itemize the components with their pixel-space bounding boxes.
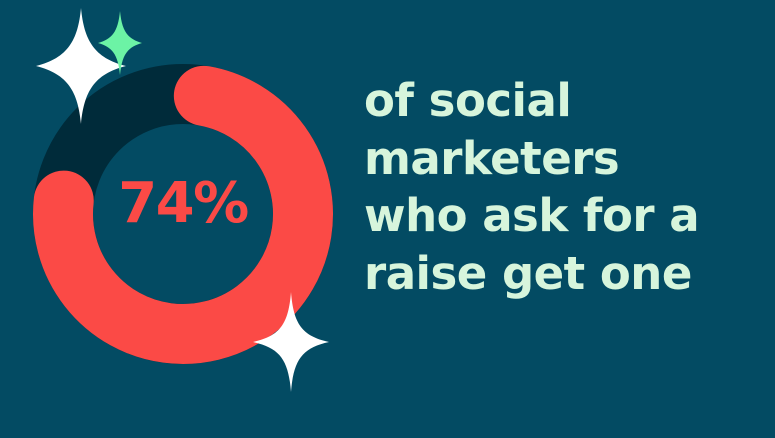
donut-center-percentage: 74%	[33, 176, 333, 232]
headline-line-4: raise get one	[364, 245, 764, 303]
headline-line-2: marketers	[364, 130, 764, 188]
headline-line-3: who ask for a	[364, 187, 764, 245]
infographic-canvas: 74% of social marketers who ask for a ra…	[0, 0, 775, 438]
headline-line-1: of social	[364, 72, 764, 130]
headline-text: of social marketers who ask for a raise …	[364, 72, 764, 302]
